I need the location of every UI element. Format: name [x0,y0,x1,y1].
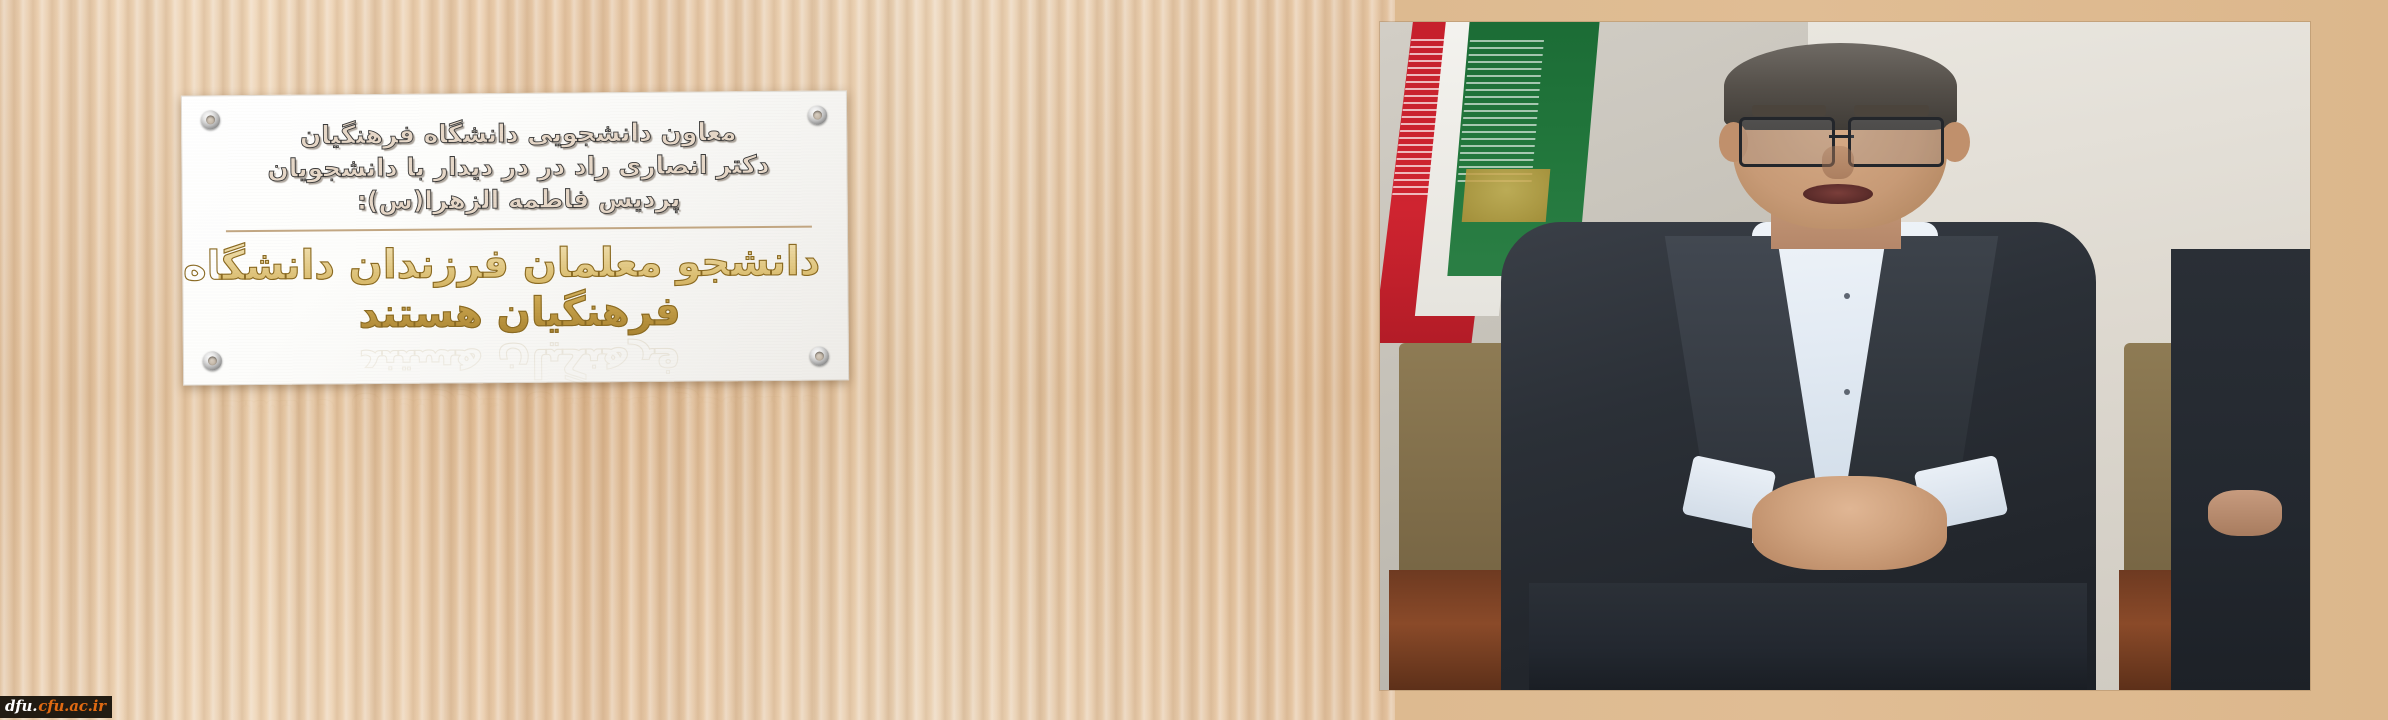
placard-content: معاون دانشجویی دانشگاه فرهنگیان دکتر انص… [217,113,821,370]
shirt-button-1 [1844,293,1850,299]
placard-divider [226,226,812,233]
watermark-prefix: dfu. [5,699,37,714]
flag-takbir-script-green [1457,35,1544,182]
eyeglass-lens-left [1739,117,1835,167]
site-watermark: dfu. cfu.ac.ir [0,696,112,718]
heading-line-3: پردیس فاطمه الزهرا(س): [218,181,820,219]
subject-eyebrow-right [1854,105,1928,116]
second-person-hand [2208,490,2282,537]
eyeglass-lens-right [1848,117,1944,167]
placard-heading: معاون دانشجویی دانشگاه فرهنگیان دکتر انص… [217,113,820,219]
news-photo [1380,22,2310,690]
subject-ear-right [1940,122,1970,162]
quote-reflection-line-2: فرهنگیان هستند [219,335,821,389]
quote-line-1: دانشجو معلمان فرزندان دانشگاه [218,238,820,292]
shirt-button-2 [1844,389,1850,395]
heading-line-1: معاون دانشجویی دانشگاه فرهنگیان [217,115,819,153]
announcement-placard: معاون دانشجویی دانشگاه فرهنگیان دکتر انص… [181,90,849,385]
watermark-domain: cfu.ac.ir [38,699,106,714]
flag-finial-icon [1461,169,1549,222]
banner-image: معاون دانشجویی دانشگاه فرهنگیان دکتر انص… [0,0,2388,720]
subject-eyebrow-left [1752,105,1826,116]
subject-trousers [1529,583,2087,690]
subject-clasped-hands [1752,476,1947,570]
subject-mouth [1803,184,1873,204]
quote-line-2: فرهنگیان هستند [218,286,820,340]
heading-line-2: دکتر انصاری راد در در دیدار با دانشجویان [217,148,819,186]
placard-quote: دانشجو معلمان فرزندان دانشگاه فرهنگیان ه… [218,238,821,340]
second-person [2171,249,2311,690]
subject-nose [1822,146,1855,179]
